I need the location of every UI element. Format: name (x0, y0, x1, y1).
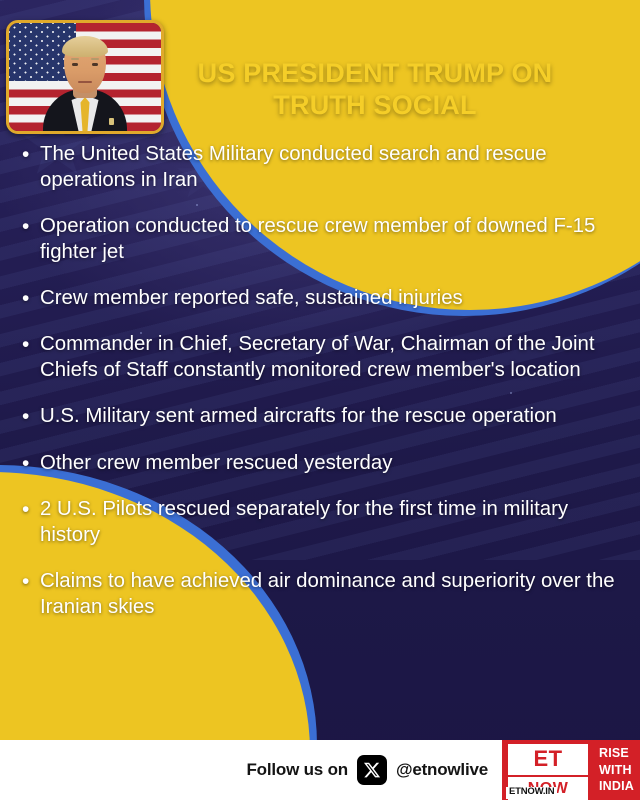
page-title: US PRESIDENT TRUMP ON TRUTH SOCIAL (168, 58, 582, 122)
list-item: • The United States Military conducted s… (22, 142, 620, 194)
etnow-logo-url: ETNOW.IN (506, 787, 557, 799)
portrait-brow-left (71, 58, 79, 60)
list-item: • Operation conducted to rescue crew mem… (22, 214, 620, 266)
portrait-brow-right (91, 58, 99, 60)
trump-portrait-photo (6, 20, 164, 134)
list-item: • Crew member reported safe, sustained i… (22, 286, 620, 313)
list-item-text: Claims to have achieved air dominance an… (40, 569, 620, 621)
list-item: • Other crew member rescued yesterday (22, 451, 620, 478)
portrait-hair (62, 36, 108, 57)
bullet-marker-icon: • (22, 286, 40, 313)
x-twitter-icon[interactable] (357, 755, 387, 785)
bullet-marker-icon: • (22, 214, 40, 266)
bullet-marker-icon: • (22, 569, 40, 621)
etnow-tagline: RISE WITH INDIA (592, 740, 640, 800)
footer-bar: Follow us on @etnowlive ET NOW ETNOW.IN … (0, 740, 640, 800)
bullet-marker-icon: • (22, 451, 40, 478)
list-item: • Commander in Chief, Secretary of War, … (22, 332, 620, 384)
list-item: • Claims to have achieved air dominance … (22, 569, 620, 621)
portrait-mouth (78, 81, 92, 84)
list-item-text: U.S. Military sent armed aircrafts for t… (40, 404, 620, 431)
bullet-marker-icon: • (22, 404, 40, 431)
portrait-eye-left (72, 63, 78, 66)
bullet-list: • The United States Military conducted s… (22, 142, 620, 641)
list-item-text: Commander in Chief, Secretary of War, Ch… (40, 332, 620, 384)
etnow-logo-et: ET (508, 744, 588, 775)
infographic-card: US PRESIDENT TRUMP ON TRUTH SOCIAL • The… (0, 0, 640, 800)
list-item-text: 2 U.S. Pilots rescued separately for the… (40, 497, 620, 549)
page-title-line-1: US PRESIDENT TRUMP ON (168, 58, 582, 90)
bullet-marker-icon: • (22, 497, 40, 549)
page-title-line-2: TRUTH SOCIAL (168, 90, 582, 122)
list-item: • 2 U.S. Pilots rescued separately for t… (22, 497, 620, 549)
list-item-text: Operation conducted to rescue crew membe… (40, 214, 620, 266)
list-item-text: The United States Military conducted sea… (40, 142, 620, 194)
etnow-tagline-line-2: WITH (599, 762, 640, 779)
bullet-marker-icon: • (22, 142, 40, 194)
list-item-text: Crew member reported safe, sustained inj… (40, 286, 620, 313)
etnow-tagline-line-1: RISE (599, 745, 640, 762)
bullet-marker-icon: • (22, 332, 40, 384)
follow-us-label: Follow us on (246, 760, 347, 780)
list-item: • U.S. Military sent armed aircrafts for… (22, 404, 620, 431)
portrait-eye-right (92, 63, 98, 66)
portrait-figure (42, 39, 128, 131)
etnow-logo[interactable]: ET NOW ETNOW.IN RISE WITH INDIA (500, 740, 640, 800)
etnow-tagline-line-3: INDIA (599, 778, 640, 795)
social-handle[interactable]: @etnowlive (396, 760, 488, 780)
portrait-lapel-pin (109, 118, 114, 125)
list-item-text: Other crew member rescued yesterday (40, 451, 620, 478)
follow-us-group: Follow us on @etnowlive (0, 740, 500, 800)
